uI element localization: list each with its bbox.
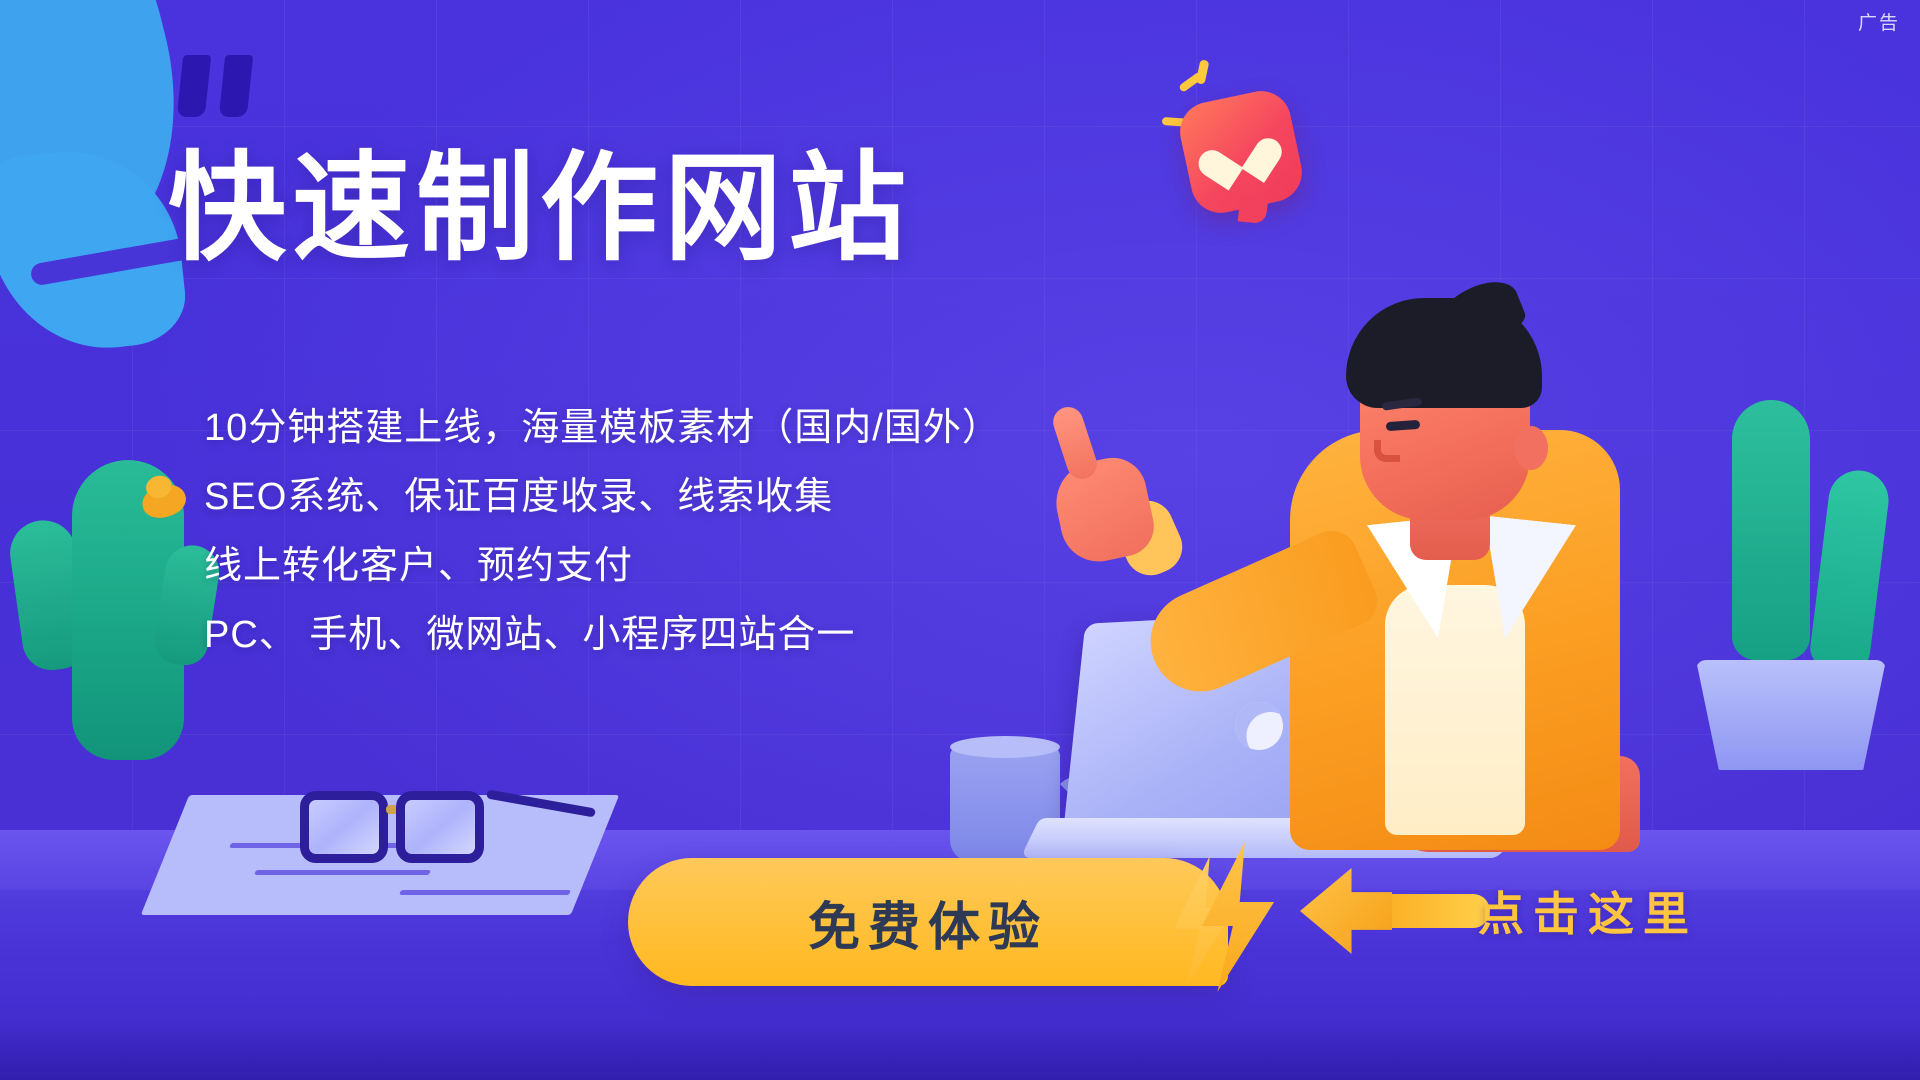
desk-shadow <box>0 1020 1920 1080</box>
ad-label: 广告 <box>1858 8 1900 35</box>
click-here-callout: 点击这里 <box>1478 878 1698 944</box>
paper-line <box>399 890 571 895</box>
paper-line <box>254 870 431 875</box>
arrow-left-icon <box>1300 868 1490 954</box>
glasses-lens-right <box>396 791 484 863</box>
eyeglasses-icon <box>300 791 520 865</box>
character-nose <box>1374 440 1400 462</box>
free-trial-button-label: 免费体验 <box>808 885 1048 960</box>
feature-item: SEO系统、保证百度收录、线索收集 <box>204 477 1001 518</box>
glasses-lens-left <box>300 791 388 863</box>
feature-list: 10分钟搭建上线，海量模板素材（国内/国外） SEO系统、保证百度收录、线索收集… <box>204 408 1001 656</box>
plant-pot <box>1696 660 1886 770</box>
heart-icon <box>1208 122 1269 180</box>
advertisement-banner[interactable]: 快速制作网站 10分钟搭建上线，海量模板素材（国内/国外） SEO系统、保证百度… <box>0 0 1920 1080</box>
character-ear <box>1514 426 1548 470</box>
feature-item: PC、 手机、微网站、小程序四站合一 <box>204 615 1001 656</box>
arrow-head <box>1300 868 1392 954</box>
free-trial-button[interactable]: 免费体验 <box>628 858 1228 986</box>
feature-item: 10分钟搭建上线，海量模板素材（国内/国外） <box>204 408 1001 449</box>
cactus-right-tall <box>1732 400 1810 660</box>
page-title: 快速制作网站 <box>168 148 912 271</box>
quote-mark-icon <box>180 55 254 125</box>
mug-rim <box>950 736 1060 758</box>
feature-item: 线上转化客户、预约支付 <box>204 546 1001 587</box>
